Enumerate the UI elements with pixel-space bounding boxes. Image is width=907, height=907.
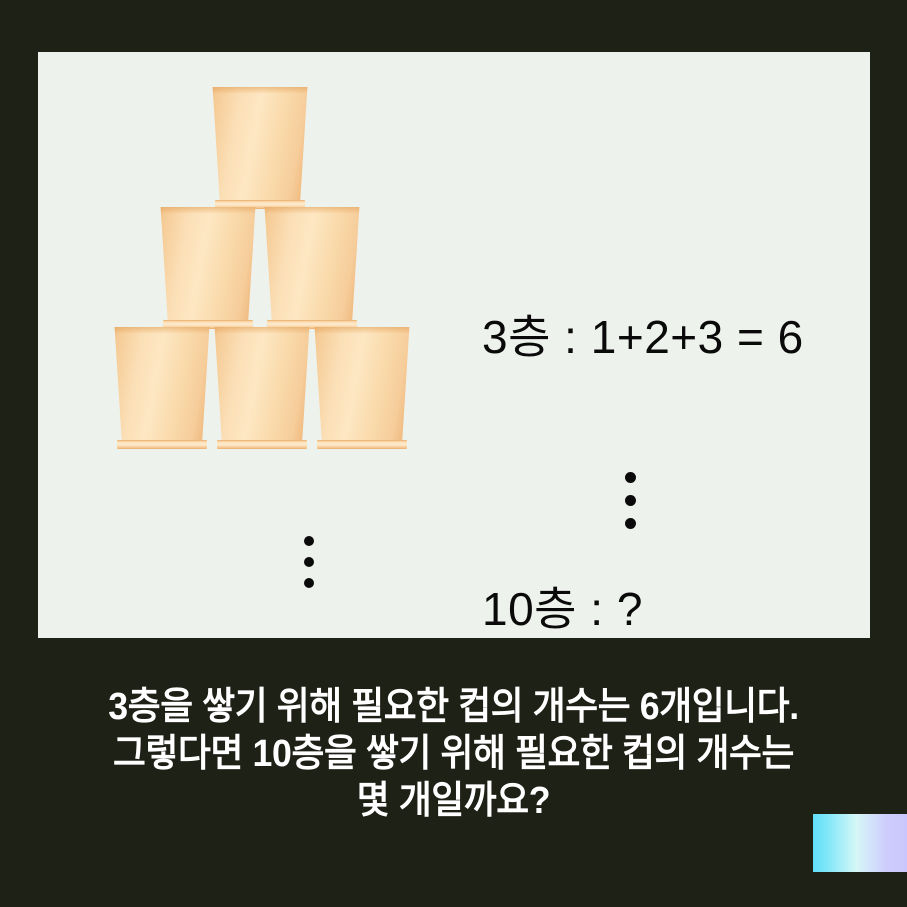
cup-body	[209, 87, 311, 200]
cup	[209, 87, 311, 209]
cup	[157, 207, 259, 329]
cup	[211, 327, 309, 449]
gradient-swatch-decoration	[813, 814, 907, 872]
cup-body	[111, 327, 213, 440]
cup-body	[211, 327, 313, 440]
ellipsis-dot	[625, 518, 636, 529]
caption-block: 3층을 쌓기 위해 필요한 컵의 개수는 6개입니다. 그렇다면 10층을 쌓기…	[27, 684, 880, 825]
equation-layer-3: 3층 : 1+2+3 = 6	[482, 314, 804, 360]
cup-row-level-2	[110, 207, 410, 329]
ellipsis-dot	[625, 472, 636, 483]
cup-body	[157, 207, 259, 320]
vertical-ellipsis-icon	[625, 472, 636, 529]
cup	[261, 207, 363, 329]
cup-row-level-1	[110, 327, 410, 449]
ellipsis-dot	[304, 557, 314, 567]
cup-pyramid-illustration	[110, 87, 410, 447]
caption-line-1: 3층을 쌓기 위해 필요한 컵의 개수는 6개입니다.	[27, 684, 880, 731]
cup-row-level-3	[110, 87, 410, 209]
caption-line-3: 몇 개일까요?	[27, 778, 880, 825]
caption-line-2: 그렇다면 10층을 쌓기 위해 필요한 컵의 개수는	[27, 731, 880, 778]
equation-layer-10: 10층 : ?	[482, 586, 643, 632]
ellipsis-dot	[625, 495, 636, 506]
cup-body	[311, 327, 413, 440]
cup-rim	[117, 440, 207, 449]
ellipsis-dot	[304, 578, 314, 588]
cup	[311, 327, 409, 449]
cup	[111, 327, 209, 449]
ellipsis-dot	[304, 536, 314, 546]
cup-body	[261, 207, 363, 320]
cup-rim	[217, 440, 307, 449]
cup-rim	[317, 440, 407, 449]
slide-canvas: 3층 : 1+2+3 = 6 10층 : ?	[38, 52, 870, 638]
vertical-ellipsis-icon	[304, 536, 314, 588]
